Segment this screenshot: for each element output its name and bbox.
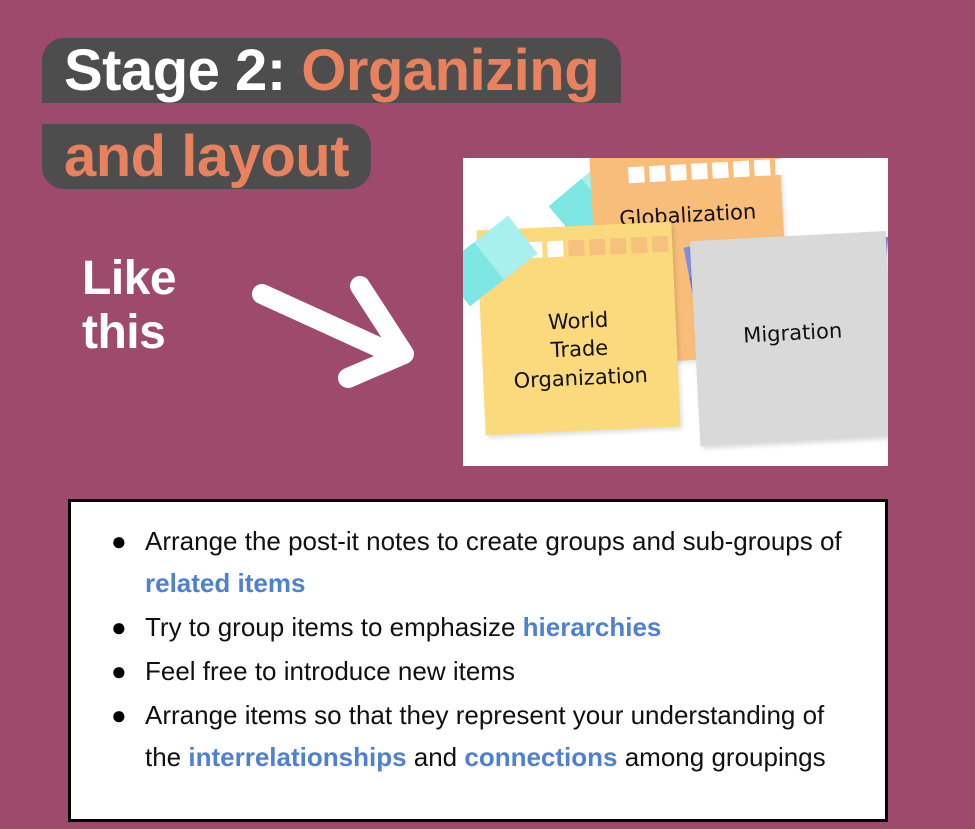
- post-it-note-migration: Migration: [690, 231, 888, 446]
- title-keyword-organizing: Organizing: [301, 38, 599, 103]
- instruction-text: Try to group items to emphasize: [145, 612, 523, 642]
- instruction-keyword: interrelationships: [188, 742, 406, 772]
- instruction-list: ●Arrange the post-it notes to create gro…: [97, 520, 859, 778]
- post-it-photo: Globalization Migration World Trade Orga…: [463, 158, 888, 466]
- instruction-text: among groupings: [618, 742, 826, 772]
- title-stage-label: Stage 2:: [64, 38, 286, 103]
- bullet-dot-icon: ●: [111, 694, 127, 736]
- instruction-text: and: [407, 742, 465, 772]
- list-item: ●Feel free to introduce new items: [97, 650, 859, 692]
- title-keyword-layout: and layout: [64, 124, 349, 189]
- instruction-text: Arrange the post-it notes to create grou…: [145, 526, 842, 556]
- list-item: ●Arrange items so that they represent yo…: [97, 694, 859, 778]
- bullet-dot-icon: ●: [111, 606, 127, 648]
- instructions-panel: ●Arrange the post-it notes to create gro…: [68, 499, 888, 822]
- bullet-dot-icon: ●: [111, 650, 127, 692]
- title-line-1: Stage 2: Organizing: [42, 28, 714, 114]
- note-label-migration: Migration: [743, 318, 843, 349]
- instruction-keyword: connections: [464, 742, 617, 772]
- instruction-keyword: related items: [145, 568, 305, 598]
- list-item: ●Arrange the post-it notes to create gro…: [97, 520, 859, 604]
- instruction-keyword: hierarchies: [523, 612, 662, 642]
- bullet-dot-icon: ●: [111, 520, 127, 562]
- instruction-text: Feel free to introduce new items: [145, 656, 515, 686]
- callout-like-this: Like this: [82, 252, 176, 360]
- slide-canvas: Stage 2: Organizing and layout Like this…: [0, 0, 975, 829]
- callout-line-1: Like: [82, 252, 176, 306]
- arrow-down-right-icon: [248, 270, 428, 400]
- list-item: ●Try to group items to emphasize hierarc…: [97, 606, 859, 648]
- callout-line-2: this: [82, 306, 176, 360]
